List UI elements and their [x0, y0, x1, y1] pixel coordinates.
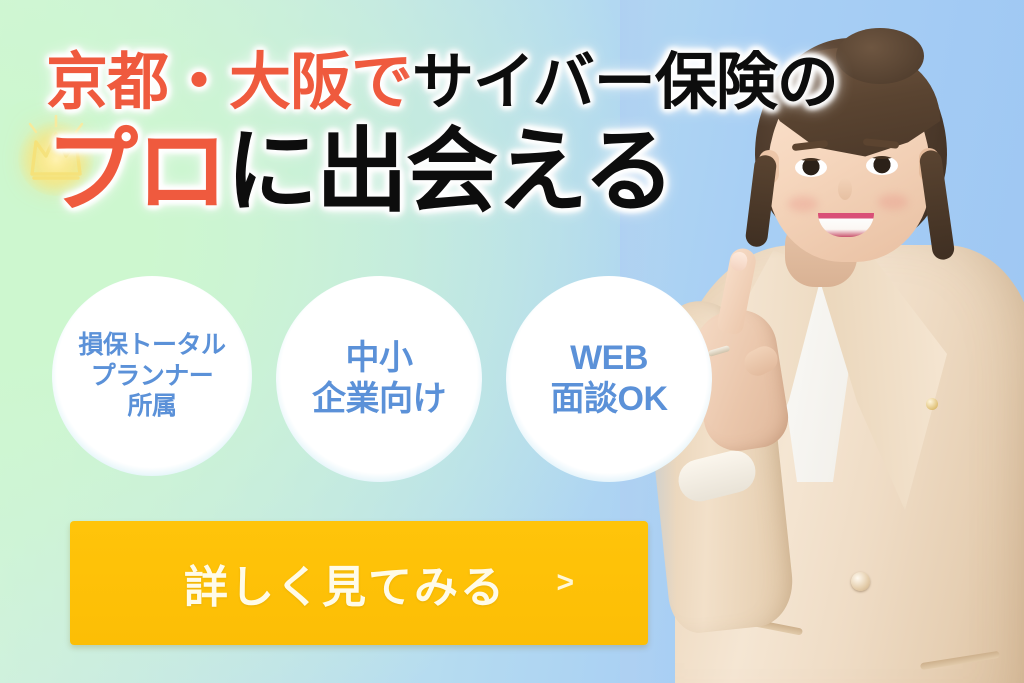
headline-line-1-rest: サイバー保険の [412, 48, 838, 117]
learn-more-label: 詳しく見てみる [184, 551, 506, 615]
hero-banner: 京都・大阪でサイバー保険の プロに出会える 損保トータル プランナー 所属 中小… [0, 0, 1024, 683]
hair-bun [836, 28, 924, 84]
jacket-button [851, 572, 870, 591]
badge-label: WEB 面談OK [551, 338, 668, 421]
badge-group: 損保トータル プランナー 所属 中小 企業向け WEB 面談OK [52, 276, 712, 482]
nose [838, 178, 852, 200]
headline-line-2-accent: プロ [46, 121, 226, 223]
headline-line-2-rest: に出会える [226, 121, 673, 223]
learn-more-button[interactable]: 詳しく見てみる > [70, 521, 648, 645]
chevron-right-icon: > [556, 566, 574, 600]
headline-line-1-accent: 京都・大阪で [46, 48, 412, 117]
badge-label: 損保トータル プランナー 所属 [78, 330, 225, 422]
badge-web-meeting-ok: WEB 面談OK [506, 276, 712, 482]
headline: 京都・大阪でサイバー保険の プロに出会える [46, 52, 836, 218]
badge-sonpo-total-planner: 損保トータル プランナー 所属 [52, 276, 252, 476]
headline-line-1: 京都・大阪でサイバー保険の [46, 52, 836, 114]
eye-right [866, 156, 898, 175]
badge-sme-oriented: 中小 企業向け [276, 276, 482, 482]
headline-line-2: プロに出会える [46, 126, 836, 218]
cheek-right [878, 194, 908, 210]
badge-label: 中小 企業向け [312, 338, 446, 421]
earring [926, 398, 938, 410]
